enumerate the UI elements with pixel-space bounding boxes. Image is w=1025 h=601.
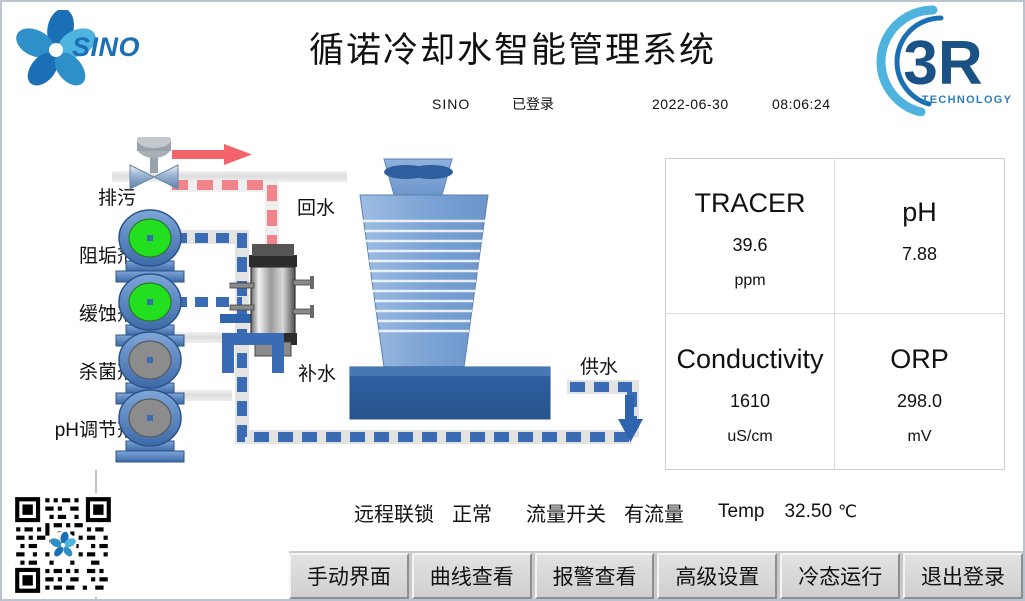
logout-button[interactable]: 退出登录 bbox=[903, 553, 1023, 599]
metric-tracer-unit: ppm bbox=[734, 272, 765, 290]
manual-screen-button[interactable]: 手动界面 bbox=[289, 553, 409, 599]
system-date: 2022-06-30 bbox=[652, 96, 772, 112]
qr-code-icon bbox=[10, 493, 116, 597]
temperature-unit: ℃ bbox=[838, 502, 857, 522]
3r-technology-logo-icon: 3R TECHNOLOGY bbox=[863, 4, 1013, 116]
metric-tracer: TRACER 39.6 ppm bbox=[666, 159, 835, 314]
metric-ph-value: 7.88 bbox=[902, 244, 937, 265]
metric-conductivity: Conductivity 1610 uS/cm bbox=[666, 314, 835, 469]
cold-start-button[interactable]: 冷态运行 bbox=[780, 553, 900, 599]
header: SINO 循诺冷却水智能管理系统 SINO 已登录 2022-06-30 08:… bbox=[2, 2, 1023, 122]
metric-tracer-value: 39.6 bbox=[732, 235, 767, 256]
metric-conductivity-name: Conductivity bbox=[676, 344, 823, 375]
dosing-pump-antiscalant bbox=[116, 210, 184, 282]
metric-orp-name: ORP bbox=[890, 344, 949, 375]
advanced-settings-button[interactable]: 高级设置 bbox=[657, 553, 777, 599]
metric-conductivity-value: 1610 bbox=[730, 391, 770, 412]
3r-logo-subtext: TECHNOLOGY bbox=[922, 94, 1013, 106]
header-meta: SINO 已登录 2022-06-30 08:06:24 bbox=[432, 94, 872, 114]
metric-conductivity-unit: uS/cm bbox=[727, 428, 772, 446]
metric-ph: pH 7.88 bbox=[835, 159, 1004, 314]
status-bar: 远程联锁 正常 流量开关 有流量 Temp 32.50 ℃ bbox=[354, 496, 857, 528]
temperature-label: Temp bbox=[718, 501, 764, 523]
makeup-water-pipe bbox=[222, 333, 284, 373]
process-diagram: 回水 补水 供水 bbox=[112, 137, 657, 482]
label-return-water: 回水 bbox=[297, 193, 335, 220]
metric-tracer-name: TRACER bbox=[694, 188, 805, 219]
hmi-screen: SINO 循诺冷却水智能管理系统 SINO 已登录 2022-06-30 08:… bbox=[0, 0, 1025, 601]
return-flow-arrow bbox=[172, 144, 252, 165]
label-makeup-water: 补水 bbox=[298, 359, 336, 386]
measurement-panel: TRACER 39.6 ppm pH 7.88 Conductivity 161… bbox=[665, 158, 1005, 470]
dosing-pump-ph-adjuster bbox=[116, 390, 184, 462]
flow-switch-value: 有流量 bbox=[624, 498, 684, 527]
system-time: 08:06:24 bbox=[772, 96, 872, 112]
metric-ph-name: pH bbox=[902, 197, 937, 228]
interlock-value: 正常 bbox=[452, 498, 492, 527]
metric-orp: ORP 298.0 mV bbox=[835, 314, 1004, 469]
login-status: 已登录 bbox=[512, 94, 652, 114]
3r-logo-text: 3R bbox=[903, 29, 982, 98]
cooling-tower-icon bbox=[350, 159, 550, 419]
flow-switch-label: 流量开关 bbox=[526, 498, 606, 527]
toolbar: 手动界面 曲线查看 报警查看 高级设置 冷态运行 退出登录 bbox=[289, 551, 1023, 601]
label-supply-water: 供水 bbox=[580, 352, 618, 379]
metric-orp-value: 298.0 bbox=[897, 391, 942, 412]
alarm-view-button[interactable]: 报警查看 bbox=[535, 553, 655, 599]
metric-orp-unit: mV bbox=[908, 428, 932, 446]
current-user: SINO bbox=[432, 96, 512, 112]
interlock-label: 远程联锁 bbox=[354, 498, 434, 527]
temperature-value: 32.50 bbox=[784, 501, 832, 523]
trend-view-button[interactable]: 曲线查看 bbox=[412, 553, 532, 599]
